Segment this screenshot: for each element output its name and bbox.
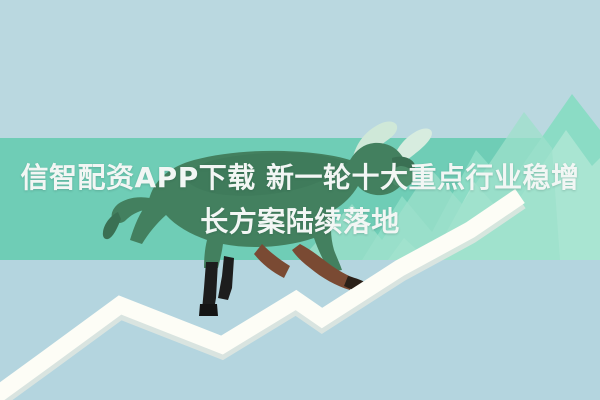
sky-band-upper-tint (0, 0, 600, 138)
hero-image-canvas: 信智配资APP下载 新一轮十大重点行业稳增长方案陆续落地 (0, 0, 600, 400)
illustration-svg (0, 0, 600, 400)
bull-hind-hoof (199, 304, 218, 316)
